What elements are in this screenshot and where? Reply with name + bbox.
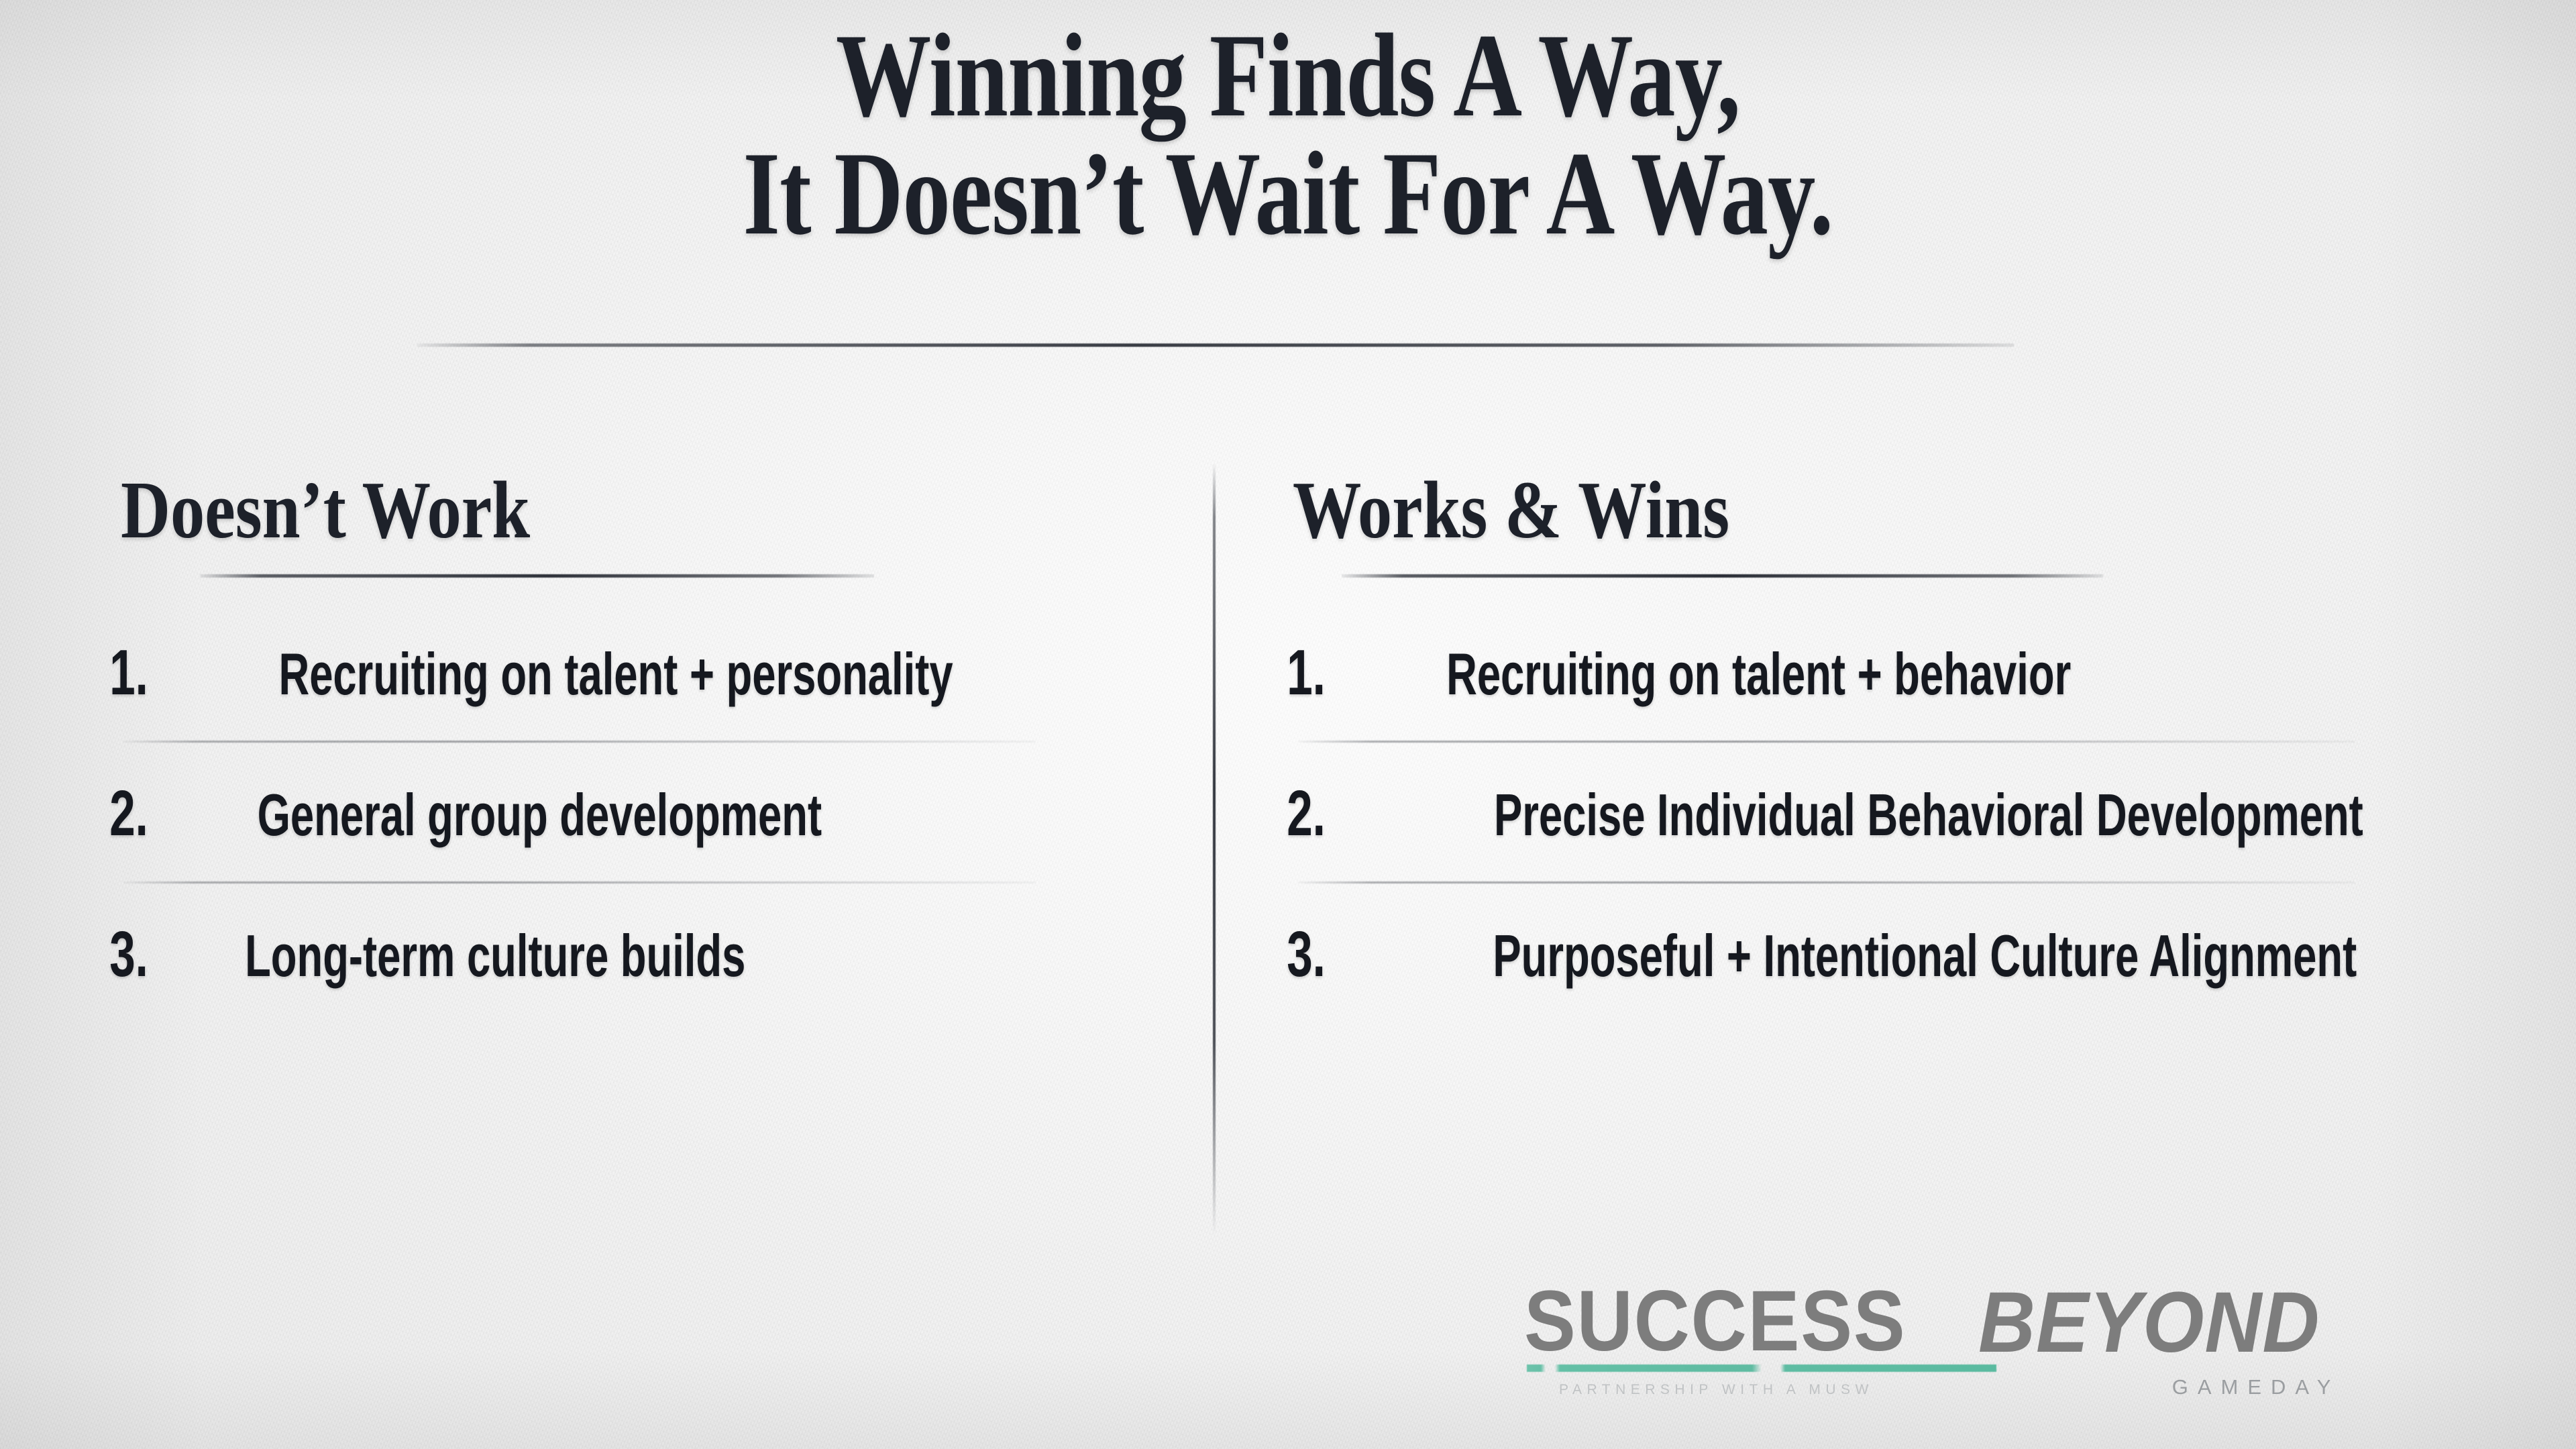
column-divider-line	[1213, 463, 1216, 1234]
slide-canvas: Winning Finds A Way, It Doesn’t Wait For…	[0, 0, 2576, 1449]
list-item-text: Recruiting on talent + personality	[279, 642, 953, 706]
list-item-number: 3.	[109, 921, 148, 989]
list-item: 3. Long-term culture builds	[101, 921, 1147, 989]
spacer	[101, 707, 1147, 741]
spacer	[1278, 707, 2432, 741]
logo-word-beyond: BEYOND	[1978, 1281, 2320, 1364]
spacer	[101, 848, 1147, 881]
slide-title: Winning Finds A Way, It Doesn’t Wait For…	[0, 16, 2576, 252]
brand-logo: SUCCESS PARTNERSHIP WITH A MUSW BEYOND G…	[1524, 1280, 2255, 1414]
spacer	[1278, 848, 2432, 881]
column-left-heading-rule	[200, 574, 874, 578]
logo-subtitle-gameday: GAMEDAY	[1978, 1375, 2350, 1399]
spacer	[101, 883, 1147, 921]
spacer	[1278, 743, 2432, 780]
column-right-heading: Works & Wins	[1293, 470, 2249, 551]
list-item: 3. Purposeful + Intentional Culture Alig…	[1278, 921, 2432, 989]
logo-tagline: PARTNERSHIP WITH A MUSW	[1559, 1382, 1874, 1398]
list-item: 1. Recruiting on talent + personality	[101, 639, 1147, 707]
list-item-text: Long-term culture builds	[245, 924, 745, 987]
list-item-number: 2.	[1287, 780, 1326, 848]
column-left-heading: Doesn’t Work	[121, 470, 983, 551]
list-item-separator	[1298, 881, 2355, 883]
column-right-heading-rule	[1342, 574, 2103, 578]
list-item: 2. General group development	[101, 780, 1147, 848]
list-item-separator	[123, 881, 1036, 883]
list-item-number: 1.	[109, 639, 148, 707]
spacer	[101, 743, 1147, 780]
spacer	[1278, 883, 2432, 921]
title-line-2: It Doesn’t Wait For A Way.	[258, 134, 2318, 252]
logo-word-success: SUCCESS	[1524, 1280, 1907, 1363]
logo-teal-underline	[1527, 1364, 1996, 1372]
logo-wordmarks: SUCCESS PARTNERSHIP WITH A MUSW BEYOND G…	[1524, 1280, 2255, 1399]
column-right-list: 1. Recruiting on talent + behavior 2. Pr…	[1278, 639, 2432, 988]
list-item-number: 3.	[1287, 921, 1326, 989]
list-item: 2. Precise Individual Behavioral Develop…	[1278, 780, 2432, 848]
list-item: 1. Recruiting on talent + behavior	[1278, 639, 2432, 707]
list-item-number: 2.	[109, 780, 148, 848]
logo-success-group: SUCCESS PARTNERSHIP WITH A MUSW	[1524, 1280, 1949, 1363]
column-works-and-wins: Works & Wins 1. Recruiting on talent + b…	[1278, 470, 2432, 988]
list-item-number: 1.	[1287, 639, 1326, 707]
title-line-1: Winning Finds A Way,	[258, 16, 2318, 134]
column-left-list: 1. Recruiting on talent + personality 2.…	[101, 639, 1147, 988]
column-doesnt-work: Doesn’t Work 1. Recruiting on talent + p…	[101, 470, 1147, 988]
list-item-text: Recruiting on talent + behavior	[1446, 642, 2071, 706]
title-underline-rule	[417, 343, 2014, 347]
logo-beyond-group: BEYOND GAMEDAY	[1978, 1280, 2350, 1399]
list-item-text: General group development	[258, 783, 822, 847]
list-item-text: Purposeful + Intentional Culture Alignme…	[1493, 924, 2357, 987]
list-item-separator	[1298, 741, 2355, 743]
list-item-separator	[123, 741, 1036, 743]
list-item-text: Precise Individual Behavioral Developmen…	[1494, 783, 2363, 847]
